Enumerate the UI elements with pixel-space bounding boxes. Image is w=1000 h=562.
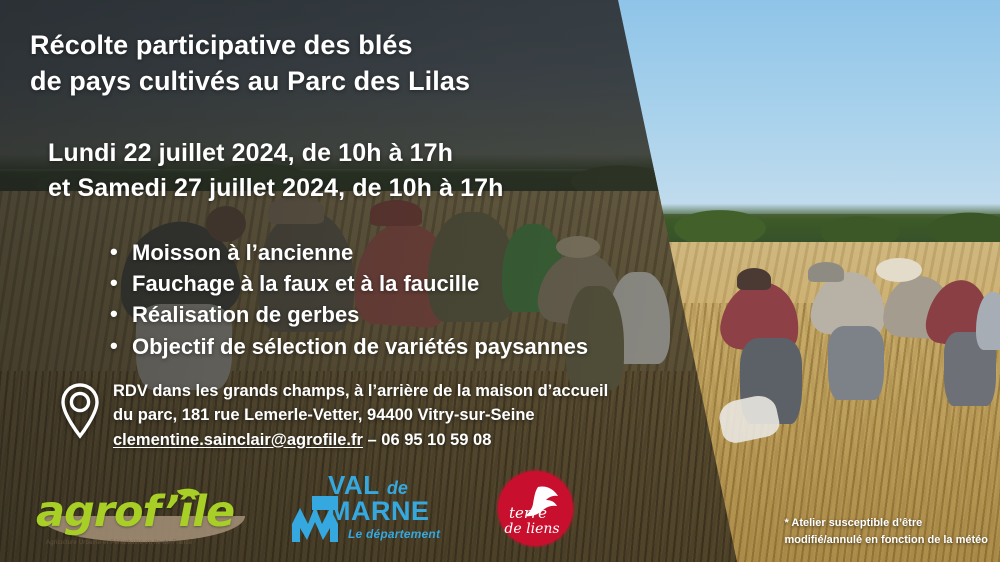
contact-separator: –	[363, 431, 381, 449]
agrofile-wordmark: agrof’île	[36, 491, 251, 534]
list-item: Moisson à l’ancienne	[110, 237, 588, 268]
map-pin-icon	[58, 381, 102, 441]
event-dates: Lundi 22 juillet 2024, de 10h à 17h et S…	[48, 136, 504, 205]
val-de-marne-department: Le département	[348, 527, 440, 541]
harvester-grey-pants	[828, 326, 884, 400]
list-item: Réalisation de gerbes	[110, 299, 588, 330]
harvester-maroon-cap	[737, 268, 771, 290]
val-de-marne-marne: MARNE	[328, 496, 430, 527]
harvest-sack	[716, 392, 781, 445]
footnote-line-1: * Atelier susceptible d’être	[784, 515, 988, 532]
agrofile-logo[interactable]: Agriculture Urbaine et Périurbaine en Îl…	[36, 474, 251, 548]
footnote-line-2: modifié/annulé en fonction de la météo	[784, 532, 988, 549]
agrofile-tagline: Agriculture Urbaine et Périurbaine en Îl…	[46, 540, 192, 546]
phone-number: 06 95 10 59 08	[381, 431, 491, 449]
svg-text:terre: terre	[509, 504, 547, 522]
date-line-2: et Samedi 27 juillet 2024, de 10h à 17h	[48, 171, 504, 206]
val-de-marne-logo[interactable]: VAL de MARNE Le département	[290, 470, 470, 546]
vdm-de-text: de	[387, 478, 408, 498]
contact-line: clementine.sainclair@agrofile.fr – 06 95…	[113, 428, 608, 452]
harvester-grey-hat	[808, 262, 844, 282]
address-line-1: RDV dans les grands champs, à l’arrière …	[113, 379, 608, 403]
terre-de-liens-logo[interactable]: terre de liens	[498, 471, 573, 546]
email-link[interactable]: clementine.sainclair@agrofile.fr	[113, 431, 363, 449]
date-line-1: Lundi 22 juillet 2024, de 10h à 17h	[48, 136, 504, 171]
terre-de-liens-mark-icon: terre de liens	[498, 471, 573, 546]
page-title: Récolte participative des blés de pays c…	[30, 28, 470, 100]
harvester-sunhat	[876, 258, 922, 282]
logo-bar: Agriculture Urbaine et Périurbaine en Îl…	[0, 466, 620, 554]
svg-text:de liens: de liens	[504, 521, 559, 537]
weather-disclaimer: * Atelier susceptible d’être modifié/ann…	[784, 515, 988, 548]
list-item: Objectif de sélection de variétés paysan…	[110, 331, 588, 362]
address-text: RDV dans les grands champs, à l’arrière …	[113, 379, 608, 452]
list-item: Fauchage à la faux et à la faucille	[110, 268, 588, 299]
address-line-2: du parc, 181 rue Lemerle-Vetter, 94400 V…	[113, 403, 608, 427]
title-line-1: Récolte participative des blés	[30, 28, 470, 64]
location-block: RDV dans les grands champs, à l’arrière …	[58, 379, 608, 452]
activities-list: Moisson à l’ancienne Fauchage à la faux …	[110, 237, 588, 362]
title-line-2: de pays cultivés au Parc des Lilas	[30, 64, 470, 100]
poster-flyer: Récolte participative des blés de pays c…	[0, 0, 1000, 562]
